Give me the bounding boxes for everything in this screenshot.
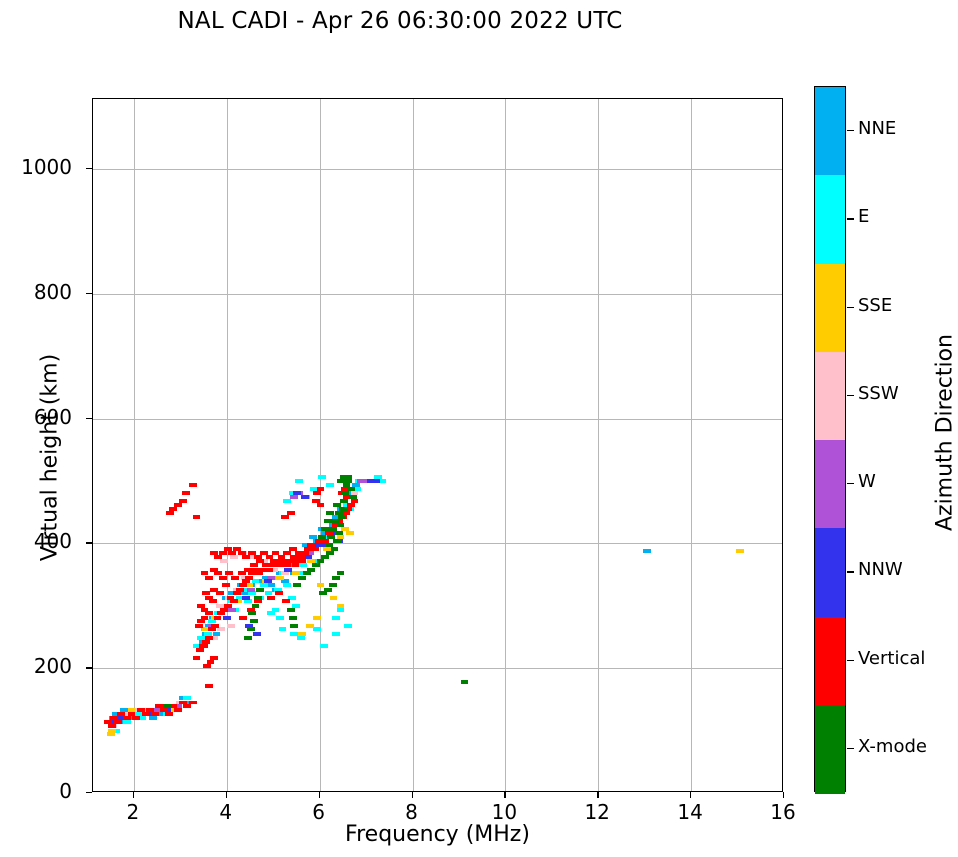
data-point-x-mode xyxy=(321,555,329,559)
data-point-vertical xyxy=(266,568,274,572)
data-point-vertical xyxy=(275,591,283,595)
data-point-sse xyxy=(107,732,115,736)
data-point-vertical xyxy=(201,616,209,620)
data-point-vertical xyxy=(114,720,122,724)
data-point-vertical xyxy=(220,608,228,612)
data-point-x-mode xyxy=(337,479,345,483)
data-point-x-mode xyxy=(321,527,329,531)
data-point-vertical xyxy=(239,583,247,587)
data-point-e xyxy=(320,644,328,648)
x-tick-mark xyxy=(504,792,505,798)
data-point-e xyxy=(260,583,268,587)
colorbar-segment-e xyxy=(815,175,845,264)
data-point-nnw xyxy=(253,632,261,636)
data-point-x-mode xyxy=(244,636,252,640)
data-point-nne xyxy=(240,591,248,595)
data-point-x-mode xyxy=(461,680,469,684)
data-point-e xyxy=(313,627,321,631)
data-point-x-mode xyxy=(312,563,320,567)
data-point-vertical xyxy=(282,599,290,603)
data-point-vertical xyxy=(193,515,201,519)
data-point-vertical xyxy=(205,684,213,688)
data-point-vertical xyxy=(287,511,295,515)
data-point-x-mode xyxy=(248,611,256,615)
data-point-vertical xyxy=(202,640,210,644)
data-point-x-mode xyxy=(347,487,355,491)
data-point-vertical xyxy=(244,568,252,572)
data-point-x-mode xyxy=(293,583,301,587)
data-point-vertical xyxy=(199,644,207,648)
data-point-vertical xyxy=(239,616,247,620)
data-point-nne xyxy=(149,716,157,720)
data-point-x-mode xyxy=(333,539,341,543)
colorbar-tick-mark xyxy=(847,660,854,661)
data-point-ssw xyxy=(227,624,235,628)
data-point-e xyxy=(123,720,131,724)
data-point-nnw xyxy=(223,616,231,620)
data-point-vertical xyxy=(224,547,232,551)
x-tick-label: 6 xyxy=(296,800,342,824)
data-point-e xyxy=(332,616,340,620)
data-point-w xyxy=(228,608,236,612)
data-point-ssw xyxy=(217,627,225,631)
data-point-vertical xyxy=(228,551,236,555)
y-tick-mark xyxy=(86,792,92,793)
colorbar-tick-mark xyxy=(847,130,854,131)
plot-axes xyxy=(92,98,783,792)
data-point-sse xyxy=(341,527,349,531)
data-point-vertical xyxy=(174,708,182,712)
data-point-e xyxy=(297,636,305,640)
data-point-vertical xyxy=(183,704,191,708)
data-point-sse xyxy=(346,531,354,535)
data-point-vertical xyxy=(230,599,238,603)
data-point-vertical xyxy=(174,503,182,507)
data-point-x-mode xyxy=(324,519,332,523)
data-point-x-mode xyxy=(344,475,352,479)
data-point-vertical xyxy=(231,576,239,580)
data-point-vertical xyxy=(214,616,222,620)
data-point-x-mode xyxy=(331,547,339,551)
data-point-vertical xyxy=(297,555,305,559)
data-point-e xyxy=(344,624,352,628)
data-point-x-mode xyxy=(250,619,258,623)
data-point-vertical xyxy=(195,624,203,628)
data-point-vertical xyxy=(245,576,253,580)
colorbar-segment-x-mode xyxy=(815,705,845,794)
data-point-sse xyxy=(313,616,321,620)
data-point-x-mode xyxy=(343,483,351,487)
data-point-w xyxy=(290,495,298,499)
colorbar-segment-vertical xyxy=(815,617,845,706)
data-point-vertical xyxy=(224,604,232,608)
data-point-vertical xyxy=(295,551,303,555)
data-point-vertical xyxy=(165,712,173,716)
data-point-nnw xyxy=(242,596,250,600)
data-point-vertical xyxy=(189,483,197,487)
data-point-x-mode xyxy=(317,559,325,563)
scatter-plot-surface xyxy=(93,99,782,791)
data-point-e xyxy=(276,616,284,620)
data-point-vertical xyxy=(196,648,204,652)
colorbar-tick-label-sse: SSE xyxy=(858,295,892,316)
data-point-e xyxy=(332,632,340,636)
data-point-x-mode xyxy=(307,568,315,572)
data-point-vertical xyxy=(283,551,291,555)
page-title: NAL CADI - Apr 26 06:30:00 2022 UTC xyxy=(0,8,800,34)
data-point-vertical xyxy=(217,611,225,615)
colorbar-segment-sse xyxy=(815,264,845,353)
data-point-x-mode xyxy=(290,624,298,628)
data-point-e xyxy=(244,599,252,603)
data-point-vertical xyxy=(166,511,174,515)
data-point-e xyxy=(318,475,326,479)
data-point-vertical xyxy=(219,551,227,555)
data-point-x-mode xyxy=(344,479,352,483)
data-point-vertical xyxy=(169,507,177,511)
x-tick-label: 2 xyxy=(110,800,156,824)
data-point-x-mode xyxy=(303,571,311,575)
colorbar-tick-label-ssw: SSW xyxy=(858,383,899,404)
colorbar-tick-mark xyxy=(847,483,854,484)
data-point-e xyxy=(299,563,307,567)
data-point-nne xyxy=(267,583,275,587)
x-tick-label: 10 xyxy=(481,800,527,824)
x-axis-label: Frequency (MHz) xyxy=(92,822,783,847)
data-point-vertical xyxy=(250,563,258,567)
data-point-vertical xyxy=(202,591,210,595)
data-point-vertical xyxy=(108,724,116,728)
data-point-ssw xyxy=(351,491,359,495)
data-point-x-mode xyxy=(332,576,340,580)
data-point-sse xyxy=(736,549,744,553)
data-point-x-mode xyxy=(287,608,295,612)
data-point-sse xyxy=(330,596,338,600)
colorbar-segment-nne xyxy=(815,87,845,176)
data-point-vertical xyxy=(267,596,275,600)
data-point-vertical xyxy=(205,611,213,615)
x-tick-label: 16 xyxy=(760,800,806,824)
data-point-x-mode xyxy=(337,571,345,575)
data-point-vertical xyxy=(189,701,197,705)
data-point-vertical xyxy=(222,583,230,587)
colorbar-segment-ssw xyxy=(815,352,845,441)
colorbar-tick-mark xyxy=(847,307,854,308)
data-point-nnw xyxy=(284,568,292,572)
colorbar-label: Azimuth Direction xyxy=(933,283,958,583)
data-point-vertical xyxy=(207,660,215,664)
data-point-vertical xyxy=(205,636,213,640)
data-point-w xyxy=(247,588,255,592)
colorbar xyxy=(814,86,846,792)
data-point-sse xyxy=(323,547,331,551)
data-point-vertical xyxy=(278,555,286,559)
y-tick-mark xyxy=(86,168,92,169)
y-tick-mark xyxy=(86,542,92,543)
colorbar-tick-mark xyxy=(847,571,854,572)
data-point-vertical xyxy=(343,511,351,515)
x-tick-mark xyxy=(133,792,134,798)
colorbar-tick-mark xyxy=(847,395,854,396)
data-point-vertical xyxy=(209,599,217,603)
data-point-vertical xyxy=(216,591,224,595)
data-point-vertical xyxy=(254,599,262,603)
x-tick-label: 4 xyxy=(203,800,249,824)
data-point-x-mode xyxy=(326,511,334,515)
data-point-nnw xyxy=(264,579,272,583)
x-tick-mark xyxy=(412,792,413,798)
data-point-vertical xyxy=(214,571,222,575)
colorbar-tick-mark xyxy=(847,748,854,749)
colorbar-tick-label-e: E xyxy=(858,206,869,227)
data-point-sse xyxy=(108,729,116,733)
data-point-sse xyxy=(276,576,284,580)
data-point-vertical xyxy=(151,712,159,716)
data-point-vertical xyxy=(351,499,359,503)
data-point-x-mode xyxy=(252,604,260,608)
data-point-sse xyxy=(292,571,300,575)
colorbar-tick-label-nne: NNE xyxy=(858,118,896,139)
data-point-x-mode xyxy=(289,616,297,620)
data-point-x-mode xyxy=(254,596,262,600)
data-point-vertical xyxy=(236,588,244,592)
data-point-e xyxy=(197,636,205,640)
data-point-nnw xyxy=(301,495,309,499)
data-point-x-mode xyxy=(341,491,349,495)
data-point-vertical xyxy=(203,664,211,668)
data-point-vertical xyxy=(179,499,187,503)
data-point-e xyxy=(283,499,291,503)
data-point-vertical xyxy=(182,491,190,495)
data-point-vertical xyxy=(233,547,241,551)
data-point-x-mode xyxy=(330,527,338,531)
x-tick-mark xyxy=(783,792,784,798)
data-point-vertical xyxy=(264,563,272,567)
data-point-vertical xyxy=(255,571,263,575)
data-point-vertical xyxy=(347,503,355,507)
data-point-vertical xyxy=(193,656,201,660)
data-point-sse xyxy=(337,604,345,608)
data-point-x-mode xyxy=(329,583,337,587)
data-point-x-mode xyxy=(256,588,264,592)
data-point-x-mode xyxy=(319,591,327,595)
data-point-vertical xyxy=(289,547,297,551)
data-point-vertical xyxy=(214,555,222,559)
data-point-vertical xyxy=(317,487,325,491)
data-point-vertical xyxy=(201,571,209,575)
data-point-ssw xyxy=(281,571,289,575)
data-point-vertical xyxy=(281,515,289,519)
data-point-e xyxy=(183,696,191,700)
y-tick-label: 1000 xyxy=(0,155,72,179)
x-tick-mark xyxy=(319,792,320,798)
data-point-x-mode xyxy=(335,511,343,515)
y-tick-mark xyxy=(86,667,92,668)
data-point-x-mode xyxy=(163,704,171,708)
data-point-vertical xyxy=(317,503,325,507)
y-tick-mark xyxy=(86,418,92,419)
data-point-vertical xyxy=(298,559,306,563)
data-point-vertical xyxy=(205,576,213,580)
data-point-x-mode xyxy=(349,495,357,499)
data-point-e xyxy=(283,583,291,587)
data-point-nnw xyxy=(304,555,312,559)
data-point-nnw xyxy=(293,491,301,495)
data-point-nne xyxy=(643,549,651,553)
data-point-vertical xyxy=(238,571,246,575)
data-point-vertical xyxy=(242,555,250,559)
colorbar-segment-w xyxy=(815,440,845,529)
data-point-sse xyxy=(317,583,325,587)
data-point-nnw xyxy=(372,479,380,483)
data-point-nne xyxy=(352,483,360,487)
data-point-e xyxy=(279,627,287,631)
data-point-e xyxy=(248,591,256,595)
data-point-x-mode xyxy=(332,519,340,523)
x-tick-mark xyxy=(226,792,227,798)
data-point-vertical xyxy=(233,591,241,595)
data-point-e xyxy=(295,479,303,483)
data-point-vertical xyxy=(208,627,216,631)
data-point-vertical xyxy=(211,624,219,628)
colorbar-segment-nnw xyxy=(815,528,845,617)
data-point-vertical xyxy=(142,712,150,716)
x-tick-label: 8 xyxy=(389,800,435,824)
data-point-e xyxy=(265,591,273,595)
x-tick-label: 12 xyxy=(574,800,620,824)
x-tick-mark xyxy=(597,792,598,798)
x-tick-label: 14 xyxy=(667,800,713,824)
data-point-vertical xyxy=(254,555,262,559)
data-point-vertical xyxy=(132,716,140,720)
data-point-x-mode xyxy=(298,576,306,580)
data-point-vertical xyxy=(242,579,250,583)
data-point-vertical xyxy=(123,716,131,720)
colorbar-tick-label-x-mode: X-mode xyxy=(858,736,927,757)
data-point-vertical xyxy=(311,547,319,551)
colorbar-tick-label-nnw: NNW xyxy=(858,559,903,580)
data-point-x-mode xyxy=(333,503,341,507)
data-point-vertical xyxy=(219,576,227,580)
y-axis-label: Virtual height (km) xyxy=(38,258,63,658)
colorbar-tick-mark xyxy=(847,218,854,219)
data-point-x-mode xyxy=(318,535,326,539)
colorbar-tick-label-vertical: Vertical xyxy=(858,648,925,669)
y-tick-label: 200 xyxy=(0,654,72,678)
data-point-vertical xyxy=(210,656,218,660)
data-point-sse xyxy=(306,624,314,628)
data-point-vertical xyxy=(278,563,286,567)
data-point-e xyxy=(326,483,334,487)
colorbar-tick-label-w: W xyxy=(858,471,876,492)
data-point-vertical xyxy=(313,491,321,495)
data-point-x-mode xyxy=(337,523,345,527)
data-point-sse xyxy=(298,632,306,636)
data-point-x-mode xyxy=(335,531,343,535)
data-point-e xyxy=(267,611,275,615)
data-point-vertical xyxy=(266,555,274,559)
data-point-ssw xyxy=(220,559,228,563)
data-point-x-mode xyxy=(326,551,334,555)
data-point-vertical xyxy=(225,571,233,575)
data-point-x-mode xyxy=(325,543,333,547)
data-point-e xyxy=(337,608,345,612)
data-point-x-mode xyxy=(247,627,255,631)
data-point-vertical xyxy=(292,563,300,567)
y-tick-label: 0 xyxy=(0,779,72,803)
x-tick-mark xyxy=(690,792,691,798)
data-point-ssw xyxy=(230,555,238,559)
data-point-x-mode xyxy=(327,535,335,539)
data-point-vertical xyxy=(197,619,205,623)
y-tick-mark xyxy=(86,293,92,294)
